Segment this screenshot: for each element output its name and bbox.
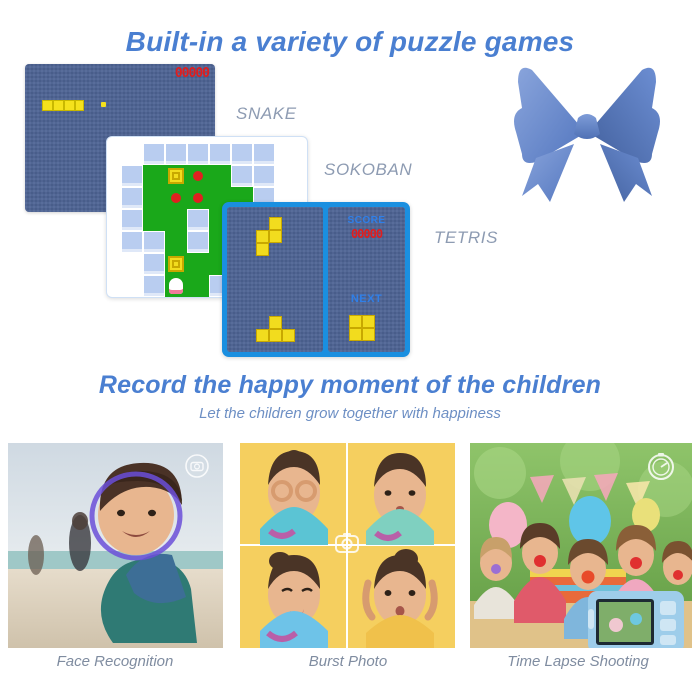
snake-food-dot (101, 102, 106, 107)
snake-body (42, 100, 84, 111)
photo-caption-face-recognition: Face Recognition (5, 653, 225, 670)
tetris-score-value: 00000 (351, 227, 382, 241)
game-label-snake: SNAKE (236, 104, 297, 124)
record-section-title: Record the happy moment of the children (0, 371, 700, 400)
photo-caption-burst: Burst Photo (238, 653, 458, 670)
photo-burst (240, 443, 455, 648)
game-label-sokoban: SOKOBAN (324, 160, 412, 180)
tetris-score-label: SCORE (347, 215, 385, 226)
ribbon-bow-icon (492, 58, 682, 208)
record-section-subtitle: Let the children grow together with happ… (0, 405, 700, 422)
tetris-playfield (227, 207, 323, 352)
games-section-title: Built-in a variety of puzzle games (0, 26, 700, 58)
tetris-game-screen: SCORE 00000 NEXT (222, 202, 410, 357)
photo-caption-time-lapse: Time Lapse Shooting (468, 653, 688, 670)
snake-score-value: 00000 (175, 66, 209, 81)
kids-camera-device (588, 591, 684, 648)
photo-time-lapse (470, 443, 692, 648)
game-label-tetris: TETRIS (434, 228, 498, 248)
product-feature-page: Built-in a variety of puzzle games 00000… (0, 0, 700, 700)
tetris-info-panel: SCORE 00000 NEXT (328, 207, 405, 352)
tetris-next-label: NEXT (351, 293, 382, 305)
photo-face-recognition (8, 443, 223, 648)
